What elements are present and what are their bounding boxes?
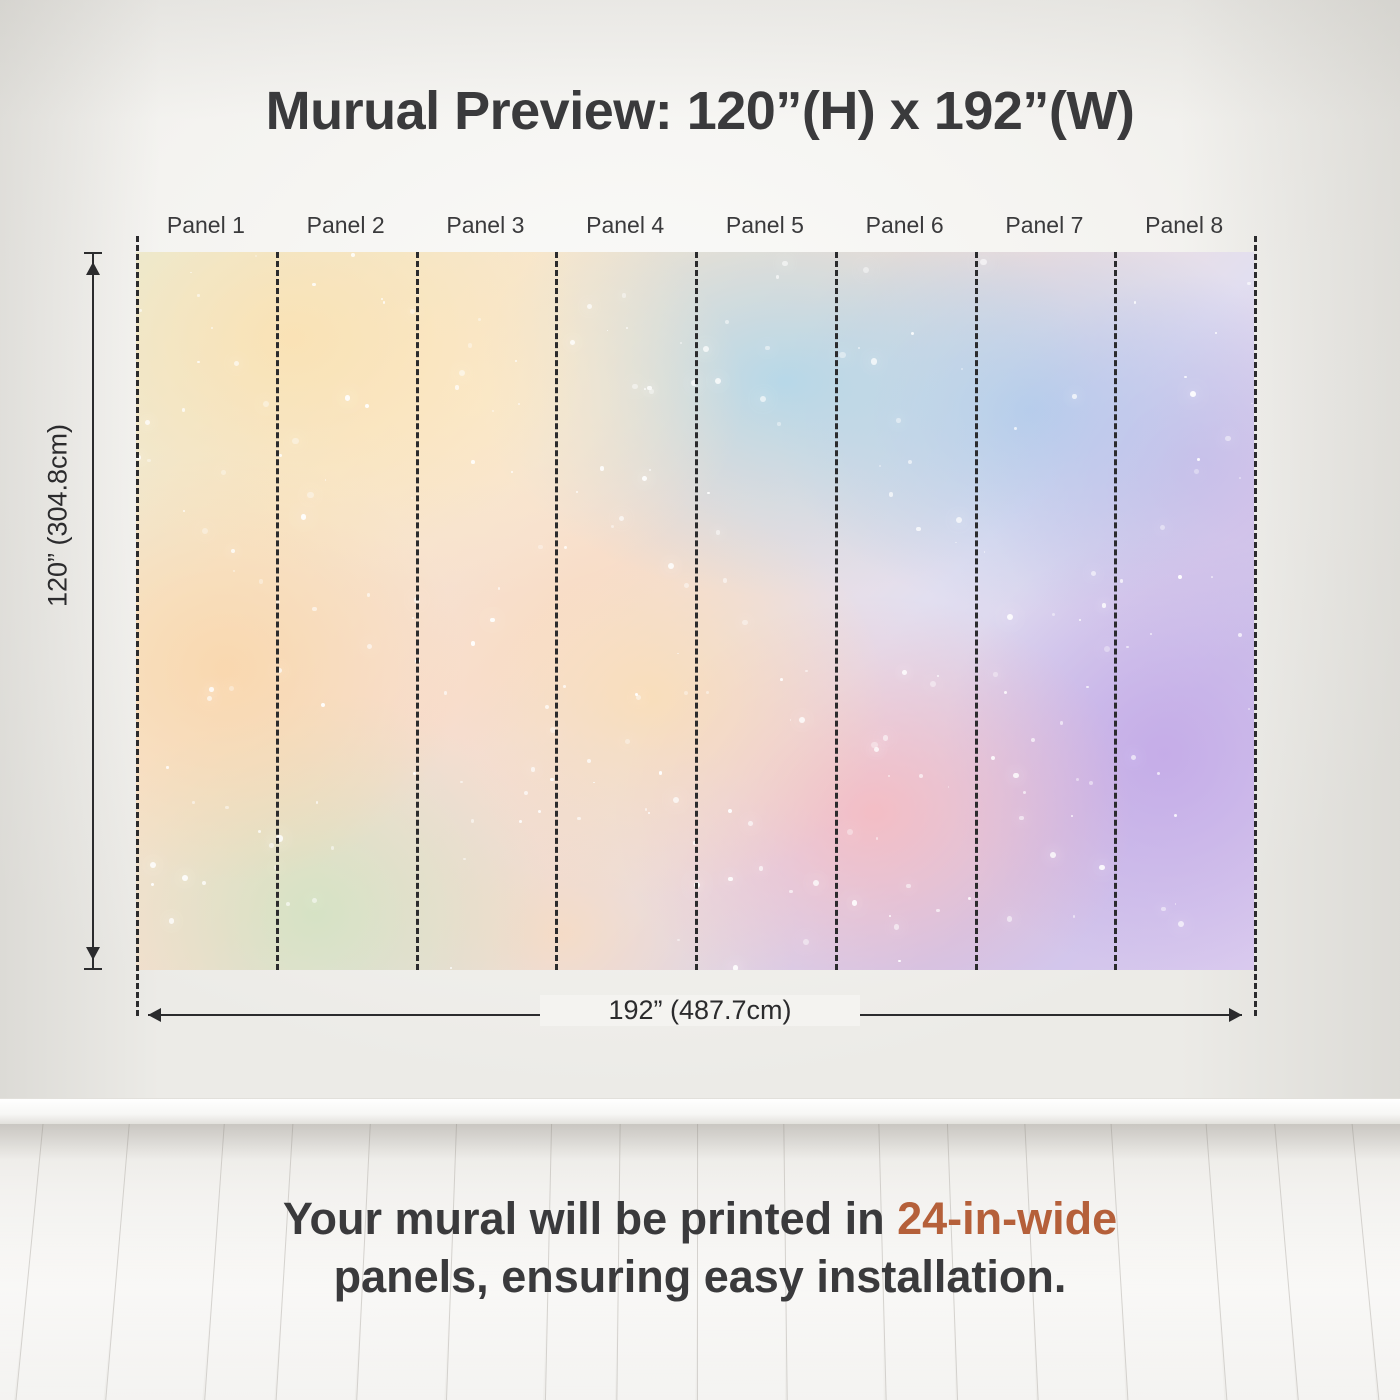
star [961,368,963,370]
star [150,862,156,868]
star [225,806,229,810]
star [1019,816,1024,821]
star [839,352,845,358]
star [876,837,878,839]
star [498,587,501,590]
star [980,259,986,265]
star [383,301,385,303]
star [803,939,809,945]
star [207,696,212,701]
star [1178,921,1184,927]
star [728,809,732,813]
star [519,820,522,823]
star [563,685,566,688]
width-arrow-right-icon [1229,1008,1242,1022]
star [468,343,472,347]
star [1052,613,1055,616]
star [1014,427,1017,430]
star [790,719,792,721]
star [645,808,648,811]
star [874,747,879,752]
star [515,360,517,362]
star [984,551,986,553]
star [955,542,957,544]
panel-divider-1 [276,252,279,970]
star [1131,755,1136,760]
star [898,960,901,963]
star [649,389,654,394]
star [1134,301,1137,304]
star [460,781,462,783]
panel-divider-4 [695,252,698,970]
star [255,255,257,257]
star [202,528,208,534]
star [1178,575,1182,579]
star [625,739,630,744]
star [321,703,325,707]
star [1086,686,1088,688]
star [1150,633,1153,636]
star [151,883,154,886]
star [301,514,306,519]
star [1194,469,1199,474]
star [531,767,536,772]
star [463,858,466,861]
star [1007,614,1013,620]
star [367,644,372,649]
height-arrow-down-icon [86,947,100,960]
star [642,476,647,481]
star [518,403,520,405]
star [1023,791,1026,794]
star [1160,525,1165,530]
height-dimension-label: 120” (304.8cm) [43,306,74,726]
star [365,404,369,408]
star [492,410,494,412]
star [570,340,575,345]
star [1184,376,1187,379]
star [908,460,912,464]
mural-preview-page: Murual Preview: 120”(H) x 192”(W) 120” (… [0,0,1400,1400]
panel-divider-5 [835,252,838,970]
star [1157,772,1160,775]
star [587,759,591,763]
star [524,791,528,795]
star [930,681,936,687]
star [345,395,351,401]
caption-line2: panels, ensuring easy installation. [334,1251,1067,1302]
star [728,877,733,882]
floor-shadow [0,1124,1400,1160]
star [233,570,235,572]
star [316,801,318,803]
star [684,583,690,589]
star [351,253,355,257]
star [680,342,682,344]
star [649,469,651,471]
star [916,527,920,531]
star [725,320,729,324]
star [765,346,770,351]
star [902,670,907,675]
panel-label-6: Panel 6 [835,212,975,239]
star [190,272,192,274]
star [760,396,766,402]
star [716,530,721,535]
star [863,267,869,273]
panel-label-7: Panel 7 [974,212,1114,239]
star [259,579,263,583]
star [703,346,709,352]
star [636,695,641,700]
star [968,897,971,900]
star [894,924,900,930]
star [1247,282,1250,285]
star [577,817,581,821]
star [852,900,858,906]
width-dimension-label: 192” (487.7cm) [540,995,860,1026]
star [911,332,914,335]
star [307,492,313,498]
panel-label-2: Panel 2 [276,212,416,239]
star [799,717,805,723]
star [269,843,274,848]
star [1120,579,1123,582]
star [197,294,199,296]
star [626,327,628,329]
star [611,525,614,528]
star [471,641,475,645]
star [263,401,269,407]
star [889,915,891,917]
star [684,691,688,695]
star [776,275,780,279]
star [919,774,923,778]
star [471,460,475,464]
star [607,330,609,332]
star [813,880,819,886]
star [619,516,624,521]
star [1050,852,1056,858]
star [450,967,452,969]
star [325,479,327,481]
star [1174,814,1177,817]
panel-label-1: Panel 1 [136,212,276,239]
star [936,909,939,912]
star [444,691,447,694]
star [1197,458,1200,461]
panel-divider-6 [975,252,978,970]
star [1004,691,1007,694]
star [1215,332,1217,334]
star [706,691,710,695]
star [229,686,234,691]
caption: Your mural will be printed in 24-in-wide… [0,1190,1400,1305]
star [1071,815,1073,817]
star [723,578,727,582]
star [715,378,721,384]
star [659,771,663,775]
star [733,965,738,970]
star [1251,403,1253,405]
star [1060,721,1063,724]
star [1161,907,1166,912]
star [538,545,543,550]
star [211,327,213,329]
star [647,386,652,391]
height-dimension-cap-bottom [84,968,102,970]
star [632,384,638,390]
star [1072,394,1077,399]
star [459,370,465,376]
star [648,812,650,814]
star [1225,436,1230,441]
star [673,797,679,803]
baseboard [0,1098,1400,1126]
star [644,388,646,390]
star [292,438,298,444]
star [879,465,881,467]
star [759,866,764,871]
star [145,420,150,425]
star [192,801,195,804]
star [231,549,236,554]
width-arrow-left-icon [148,1008,161,1022]
panel-label-3: Panel 3 [415,212,555,239]
star [1102,603,1107,608]
star [748,821,753,826]
star [1007,916,1012,921]
star [490,618,495,623]
star [197,361,199,363]
star [896,418,901,423]
star [550,778,553,781]
star [183,510,185,512]
star [1089,781,1093,785]
star [1239,477,1241,479]
star [991,756,995,760]
star [677,939,680,942]
mural-left-edge-line [136,236,139,1016]
star [209,687,214,692]
star [789,890,792,893]
star [993,672,998,677]
star [471,819,474,822]
star [1211,576,1213,578]
star [956,517,962,523]
star [286,902,290,906]
star [576,491,578,493]
star [593,782,595,784]
star [411,497,413,499]
star [1099,865,1105,871]
star [564,546,567,549]
panel-divider-2 [416,252,419,970]
star [677,653,679,655]
star [258,830,261,833]
star [202,881,206,885]
star [139,309,142,312]
page-title: Murual Preview: 120”(H) x 192”(W) [0,80,1400,142]
caption-highlight: 24-in-wide [897,1193,1117,1244]
star [600,466,604,470]
star [221,470,226,475]
star [1238,633,1242,637]
panel-label-8: Panel 8 [1114,212,1254,239]
star [1091,571,1096,576]
star [511,471,513,473]
star [1073,915,1076,918]
star [782,261,787,266]
star [1126,646,1129,649]
star [805,670,807,672]
star [888,775,890,777]
star [1104,646,1110,652]
star [1013,773,1018,778]
star [1190,391,1196,397]
height-dimension-cap-top [84,252,102,254]
star [166,766,168,768]
star [587,304,592,309]
star [906,884,911,889]
star [1175,903,1177,905]
star [279,454,282,457]
star [780,678,783,681]
star [381,298,383,300]
star [312,898,317,903]
mural-right-edge-line [1254,236,1257,1016]
panel-label-5: Panel 5 [695,212,835,239]
mural-preview[interactable]: Panel 1Panel 2Panel 3Panel 4Panel 5Panel… [136,252,1254,970]
star [169,918,174,923]
star [1079,619,1081,621]
star [331,846,335,850]
star [889,492,893,496]
star [1031,738,1035,742]
caption-line1-prefix: Your mural will be printed in [283,1193,897,1244]
star [777,422,780,425]
star [182,408,186,412]
star [182,875,188,881]
star [234,361,239,366]
star [883,735,889,741]
star [858,347,860,349]
star [1076,778,1079,781]
star [668,563,674,569]
star [312,283,315,286]
height-arrow-up-icon [86,262,100,275]
star [478,318,481,321]
star [538,810,541,813]
star [622,293,627,298]
panel-divider-3 [555,252,558,970]
star [707,492,710,495]
star [1248,708,1251,711]
star [367,593,370,596]
star [948,786,950,788]
star [412,617,414,619]
star [871,358,877,364]
panel-divider-7 [1114,252,1117,970]
star [742,620,748,626]
star [312,607,316,611]
star [147,459,150,462]
height-dimension-line [92,252,94,970]
panel-label-4: Panel 4 [555,212,695,239]
star [937,675,939,677]
star [455,385,459,389]
star [545,705,549,709]
star [847,829,853,835]
